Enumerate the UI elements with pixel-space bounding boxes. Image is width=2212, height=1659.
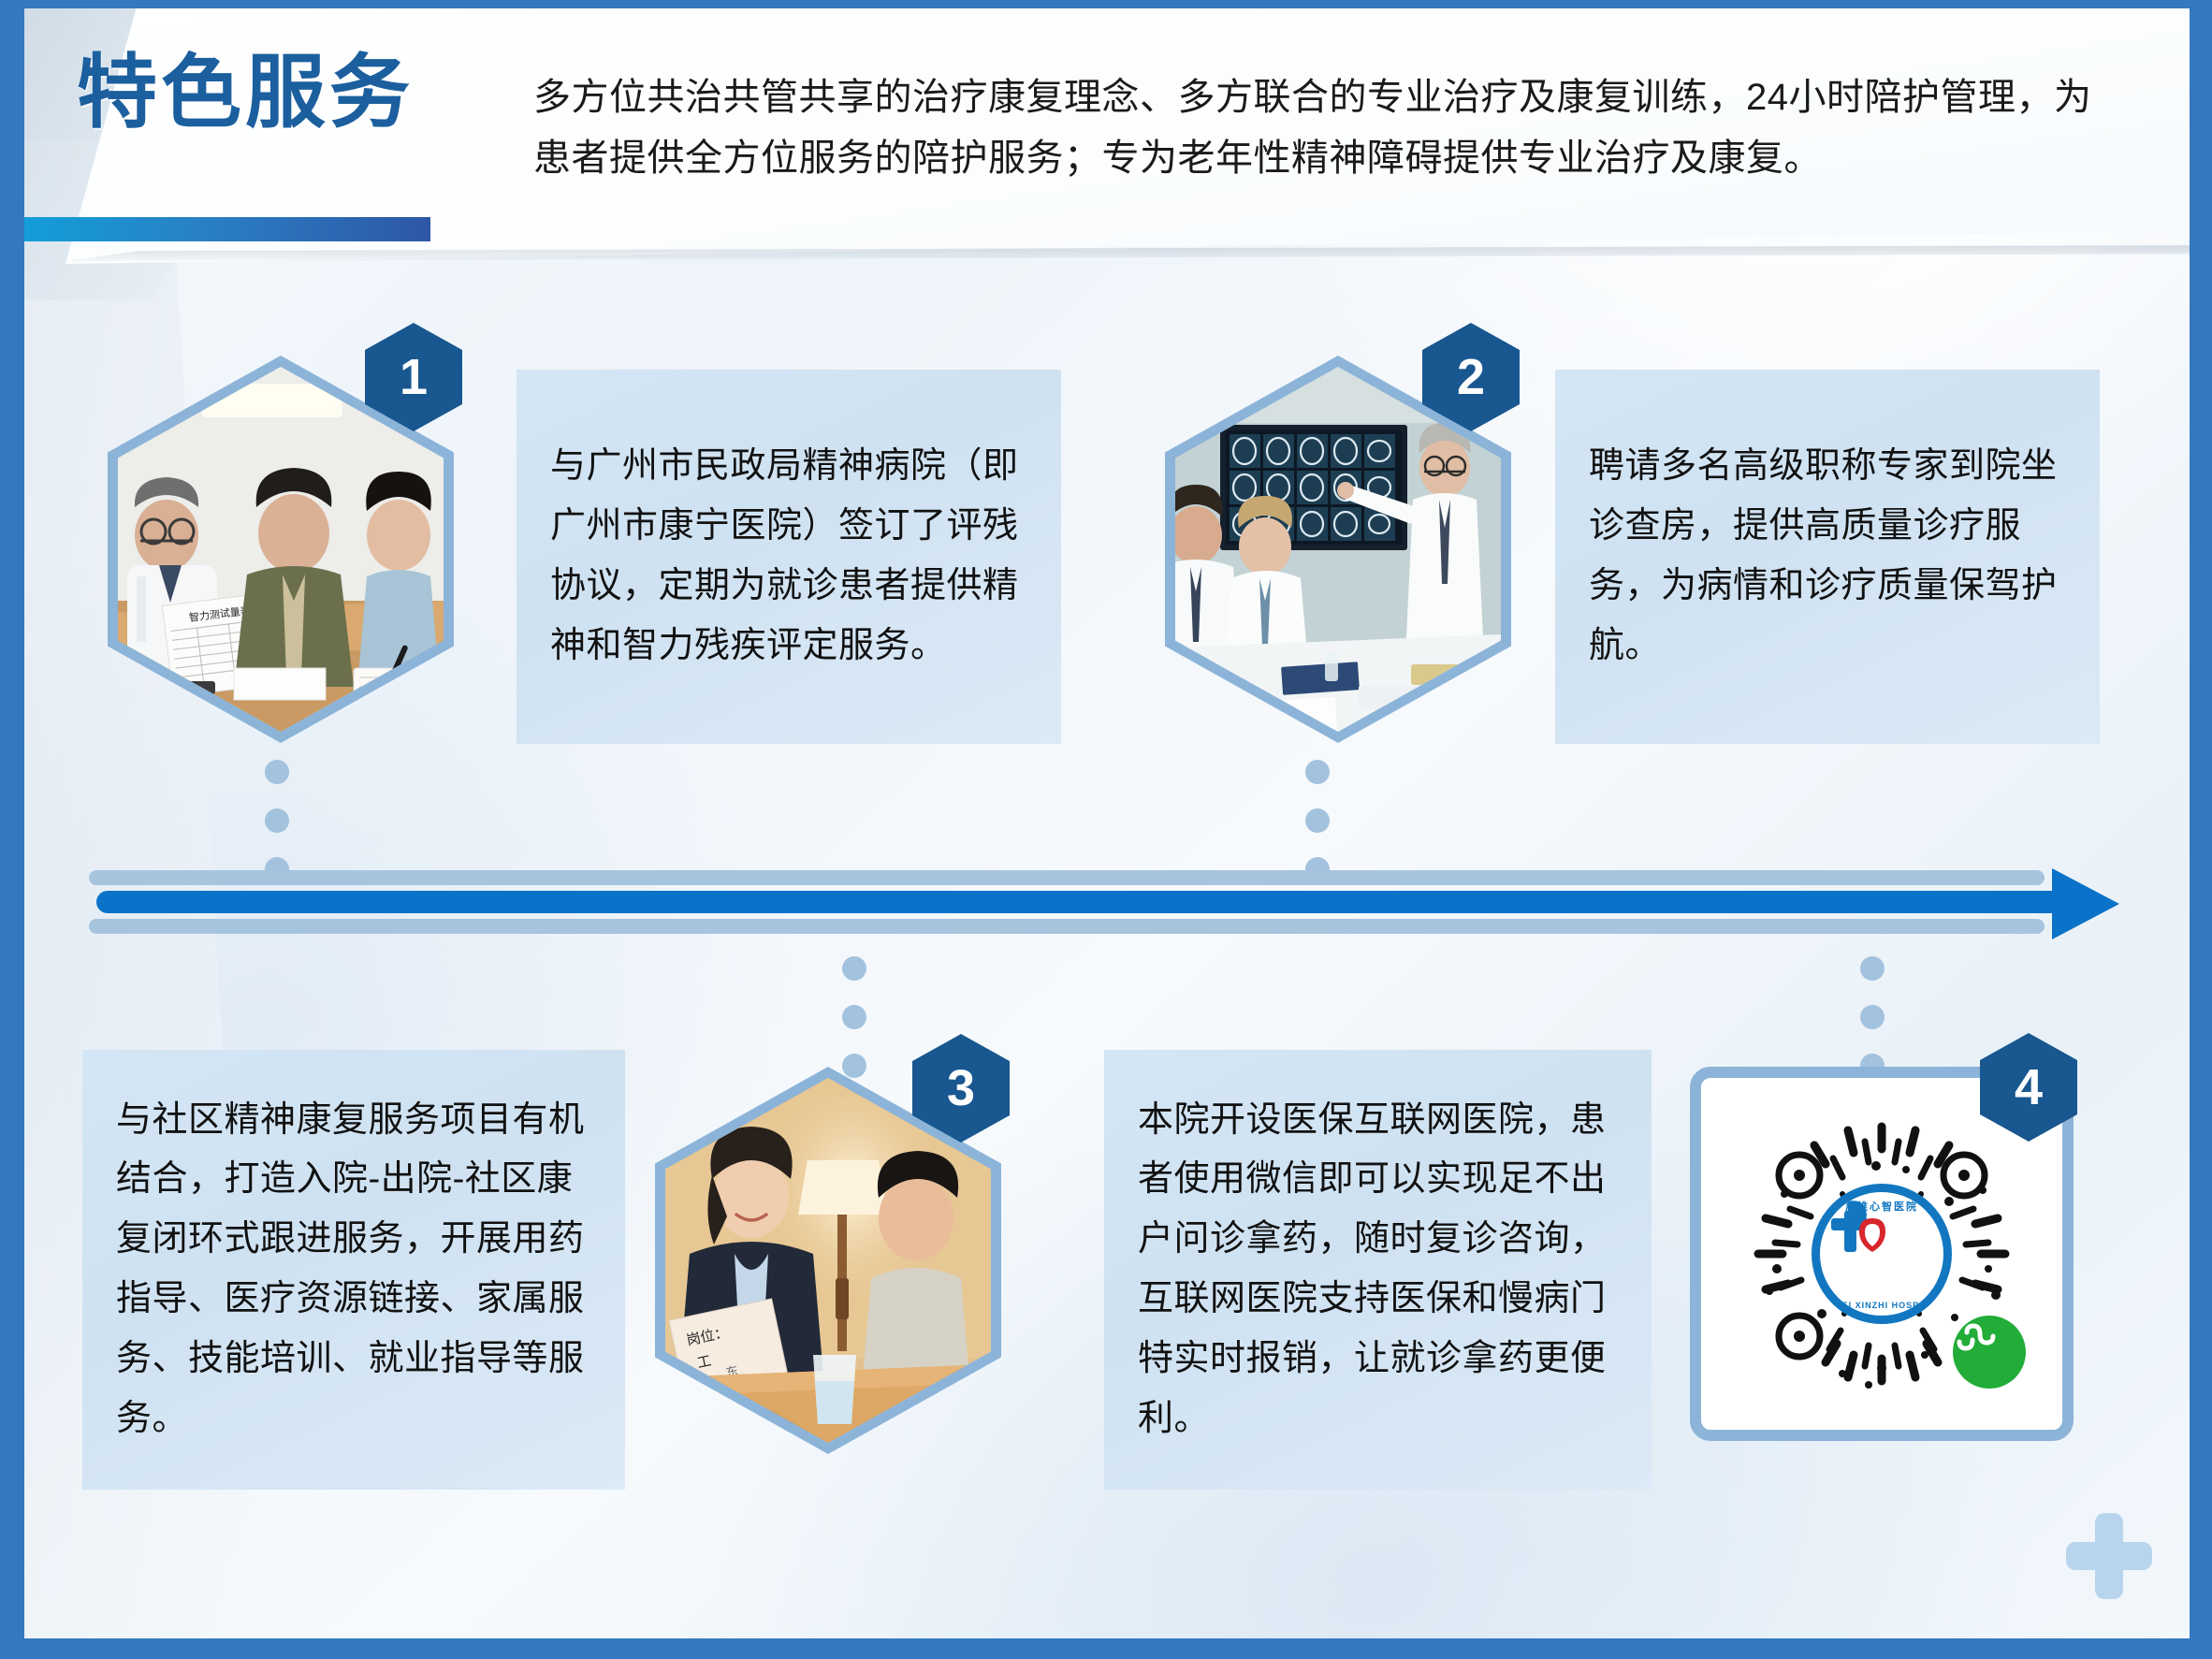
wechat-mini-program-icon	[1953, 1316, 2026, 1389]
step-3-text-panel: 与社区精神康复服务项目有机结合，打造入院-出院-社区康复闭环式跟进服务，开展用药…	[82, 1050, 625, 1490]
step-1-photo-image: 智力测试量表	[118, 367, 444, 732]
arrow-line-bottom	[89, 919, 2045, 934]
step-4-text: 本院开设医保互联网医院，患者使用微信即可以实现足不出户问诊拿药，随时复诊咨询，互…	[1138, 1091, 1618, 1449]
step-2-number: 2	[1457, 348, 1485, 406]
timeline-arrow	[89, 870, 2138, 936]
step-1-photo-group: 智力测试量表	[108, 356, 454, 743]
step-1-text: 与广州市民政局精神病院（即广州市康宁医院）签订了评残协议，定期为就诊患者提供精神…	[550, 437, 1027, 676]
arrow-line-middle	[96, 891, 2066, 913]
step-4-text-panel: 本院开设医保互联网医院，患者使用微信即可以实现足不出户问诊拿药，随时复诊咨询，互…	[1104, 1050, 1652, 1490]
arrow-head-icon	[2052, 868, 2119, 939]
step-2-text-panel: 聘请多名高级职称专家到院坐诊查房，提供高质量诊疗服务，为病情和诊疗质量保驾护航。	[1555, 370, 2100, 744]
medical-cross-icon	[2066, 1513, 2152, 1599]
arrow-line-top	[89, 870, 2045, 885]
step-3-photo-group: 岗位： 工 东 3	[655, 1067, 1001, 1454]
header-description: 多方位共治共管共享的治疗康复理念、多方联合的专业治疗及康复训练，24小时陪护管理…	[533, 67, 2105, 189]
hospital-logo-mark	[1820, 1192, 1900, 1259]
career-counseling-illustration: 岗位： 工 东	[665, 1078, 991, 1443]
page-frame-left	[0, 0, 24, 1659]
step-4-qr-group: 启维心智医院 QIWEI XINZHI HOSPITAL	[1690, 1067, 2074, 1441]
mini-program-glyph	[1953, 1316, 1998, 1361]
hospital-logo: 启维心智医院 QIWEI XINZHI HOSPITAL	[1812, 1184, 1952, 1324]
mri-review-illustration	[1175, 367, 1501, 732]
step-2-text: 聘请多名高级职称专家到院坐诊查房，提供高质量诊疗服务，为病情和诊疗质量保驾护航。	[1589, 437, 2066, 676]
page-title: 特色服务	[77, 49, 414, 138]
page-header: 特色服务 多方位共治共管共享的治疗康复理念、多方联合的专业治疗及康复训练，24小…	[0, 0, 2212, 271]
step-2-photo-image	[1175, 367, 1501, 732]
step-3-number: 3	[947, 1059, 975, 1117]
slide-root: 特色服务 多方位共治共管共享的治疗康复理念、多方联合的专业治疗及康复训练，24小…	[0, 0, 2212, 1659]
hospital-logo-text-en: QIWEI XINZHI HOSPITAL	[1820, 1301, 1943, 1310]
step-2-photo-group: 2	[1165, 356, 1511, 743]
step-1-text-panel: 与广州市民政局精神病院（即广州市康宁医院）签订了评残协议，定期为就诊患者提供精神…	[517, 370, 1061, 744]
qr-code-image: 启维心智医院 QIWEI XINZHI HOSPITAL	[1732, 1104, 2031, 1404]
step-3-photo-image: 岗位： 工 东	[665, 1078, 991, 1443]
page-frame-right	[2190, 0, 2212, 1659]
page-frame-top	[0, 0, 2212, 8]
title-underline-bar	[0, 217, 430, 241]
step-1-number: 1	[400, 348, 428, 406]
page-frame-bottom	[0, 1638, 2212, 1659]
step-4-number: 4	[2015, 1058, 2043, 1116]
consultation-room-illustration: 智力测试量表	[118, 367, 444, 732]
step-3-text: 与社区精神康复服务项目有机结合，打造入院-出院-社区康复闭环式跟进服务，开展用药…	[116, 1091, 591, 1449]
